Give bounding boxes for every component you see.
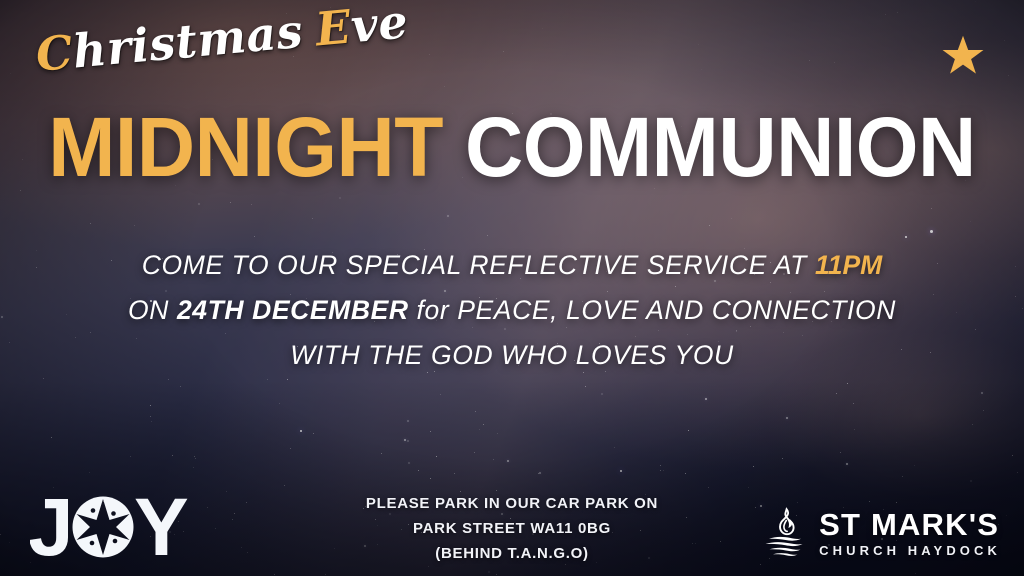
- joy-logo: J Y: [30, 484, 206, 566]
- description-line1-text: COME TO OUR SPECIAL REFLECTIVE SERVICE A…: [142, 250, 815, 280]
- parking-line-3: (BEHIND T.A.N.G.O): [302, 541, 722, 566]
- eyebrow-word1-initial: C: [34, 25, 76, 82]
- parking-line-1: PLEASE PARK IN OUR CAR PARK ON: [302, 491, 722, 516]
- parking-information: PLEASE PARK IN OUR CAR PARK ON PARK STRE…: [302, 491, 722, 566]
- description-line2-connector: for: [409, 295, 458, 325]
- joy-letter-y: Y: [134, 484, 189, 566]
- eyebrow-christmas-eve: ChristmasEve: [34, 0, 411, 82]
- event-description: COME TO OUR SPECIAL REFLECTIVE SERVICE A…: [0, 243, 1024, 378]
- st-marks-name: ST MARK'S: [819, 509, 1002, 541]
- joy-star-in-circle-icon: [73, 497, 134, 558]
- headline-word-communion: COMMUNION: [465, 100, 976, 194]
- joy-letter-j: J: [30, 484, 74, 566]
- eyebrow-word1-rest: hristmas: [71, 4, 306, 79]
- eyebrow-word2-initial: E: [313, 0, 353, 56]
- description-line-1: COME TO OUR SPECIAL REFLECTIVE SERVICE A…: [0, 243, 1024, 288]
- service-date: 24TH DECEMBER: [177, 295, 409, 325]
- st-marks-subtitle: CHURCH HAYDOCK: [819, 544, 1002, 558]
- headline-word-midnight: MIDNIGHT: [48, 100, 443, 194]
- flame-over-water-icon: [761, 506, 809, 560]
- description-line-2: ON 24TH DECEMBER for PEACE, LOVE AND CON…: [0, 288, 1024, 333]
- parking-line-2: PARK STREET WA11 0BG: [302, 516, 722, 541]
- event-poster: ChristmasEve MIDNIGHT COMMUNION COME TO …: [0, 0, 1024, 576]
- page-title: MIDNIGHT COMMUNION: [20, 104, 1003, 190]
- description-line-3: WITH THE GOD WHO LOVES YOU: [0, 333, 1024, 378]
- description-line2-prefix: ON: [128, 295, 177, 325]
- service-time: 11PM: [815, 250, 882, 280]
- description-line2-suffix: PEACE, LOVE AND CONNECTION: [457, 295, 896, 325]
- star-icon: [941, 34, 985, 78]
- eyebrow-word2-rest: ve: [349, 0, 411, 53]
- st-marks-church-logo: ST MARK'S CHURCH HAYDOCK: [761, 506, 1002, 560]
- st-marks-wordmark: ST MARK'S CHURCH HAYDOCK: [819, 509, 1002, 558]
